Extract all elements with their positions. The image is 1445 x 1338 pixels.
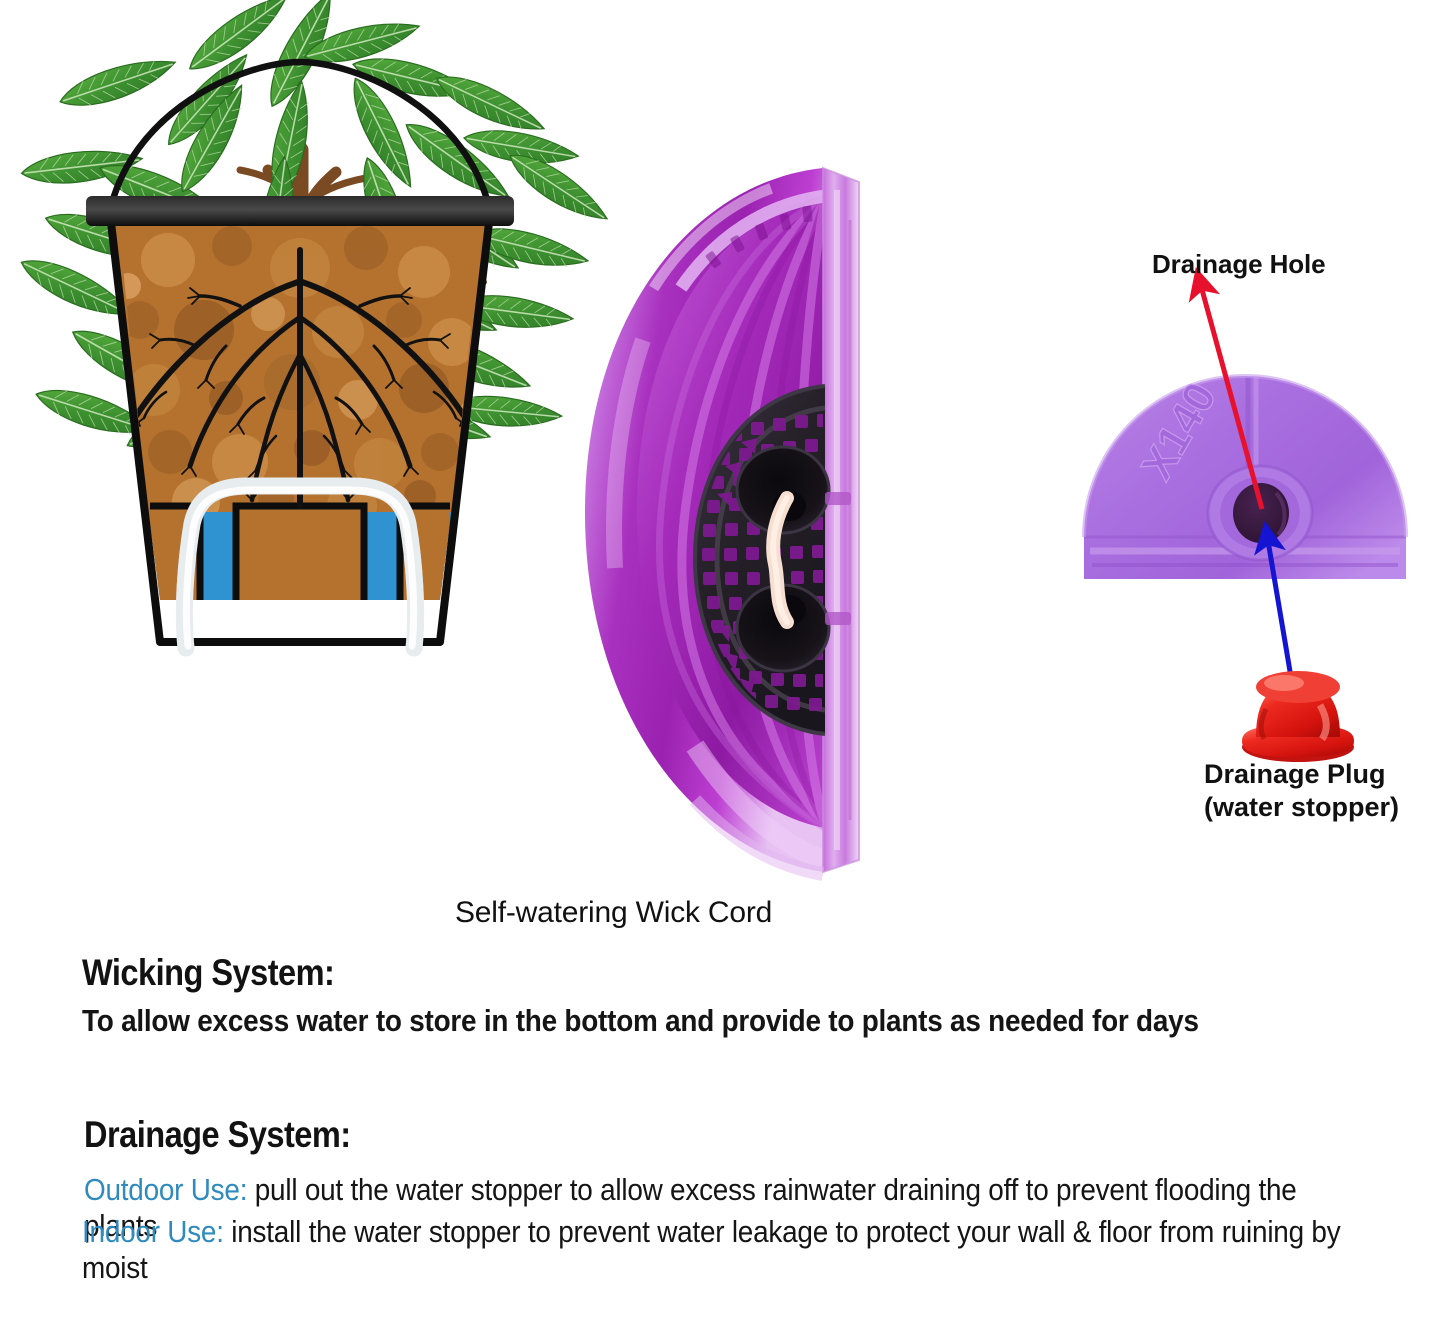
drainage-plug-label-line2: (water stopper) xyxy=(1204,791,1399,824)
illustration-area: X140 xyxy=(0,0,1445,945)
indoor-use-line: Indoor Use: install the water stopper to… xyxy=(82,1214,1360,1287)
indoor-use-tag: Indoor Use: xyxy=(82,1214,224,1249)
pot-cut-wall xyxy=(823,168,859,872)
potted-plant-diagram xyxy=(0,0,600,945)
drainage-hole xyxy=(1208,466,1312,560)
outdoor-use-tag: Outdoor Use: xyxy=(84,1172,247,1207)
drainage-hole-label: Drainage Hole xyxy=(1152,250,1326,279)
wicking-system-heading: Wicking System: xyxy=(82,952,1314,994)
indoor-use-text: install the water stopper to prevent wat… xyxy=(82,1214,1340,1285)
drainage-system-heading: Drainage System: xyxy=(84,1114,1334,1156)
drainage-plug-label-line1: Drainage Plug xyxy=(1204,758,1399,791)
pot-rim xyxy=(86,196,514,226)
wick-cord-label: Self-watering Wick Cord xyxy=(455,896,772,930)
drainage-detail-diagram: X140 xyxy=(1070,235,1445,835)
wicking-system-body: To allow excess water to store in the bo… xyxy=(82,1003,1342,1039)
drainage-plug-label: Drainage Plug (water stopper) xyxy=(1204,758,1399,824)
pot-cutaway-photo xyxy=(575,160,1075,920)
drainage-plug xyxy=(1242,671,1354,762)
wicking-system-section: Wicking System: To allow excess water to… xyxy=(82,952,1445,1039)
